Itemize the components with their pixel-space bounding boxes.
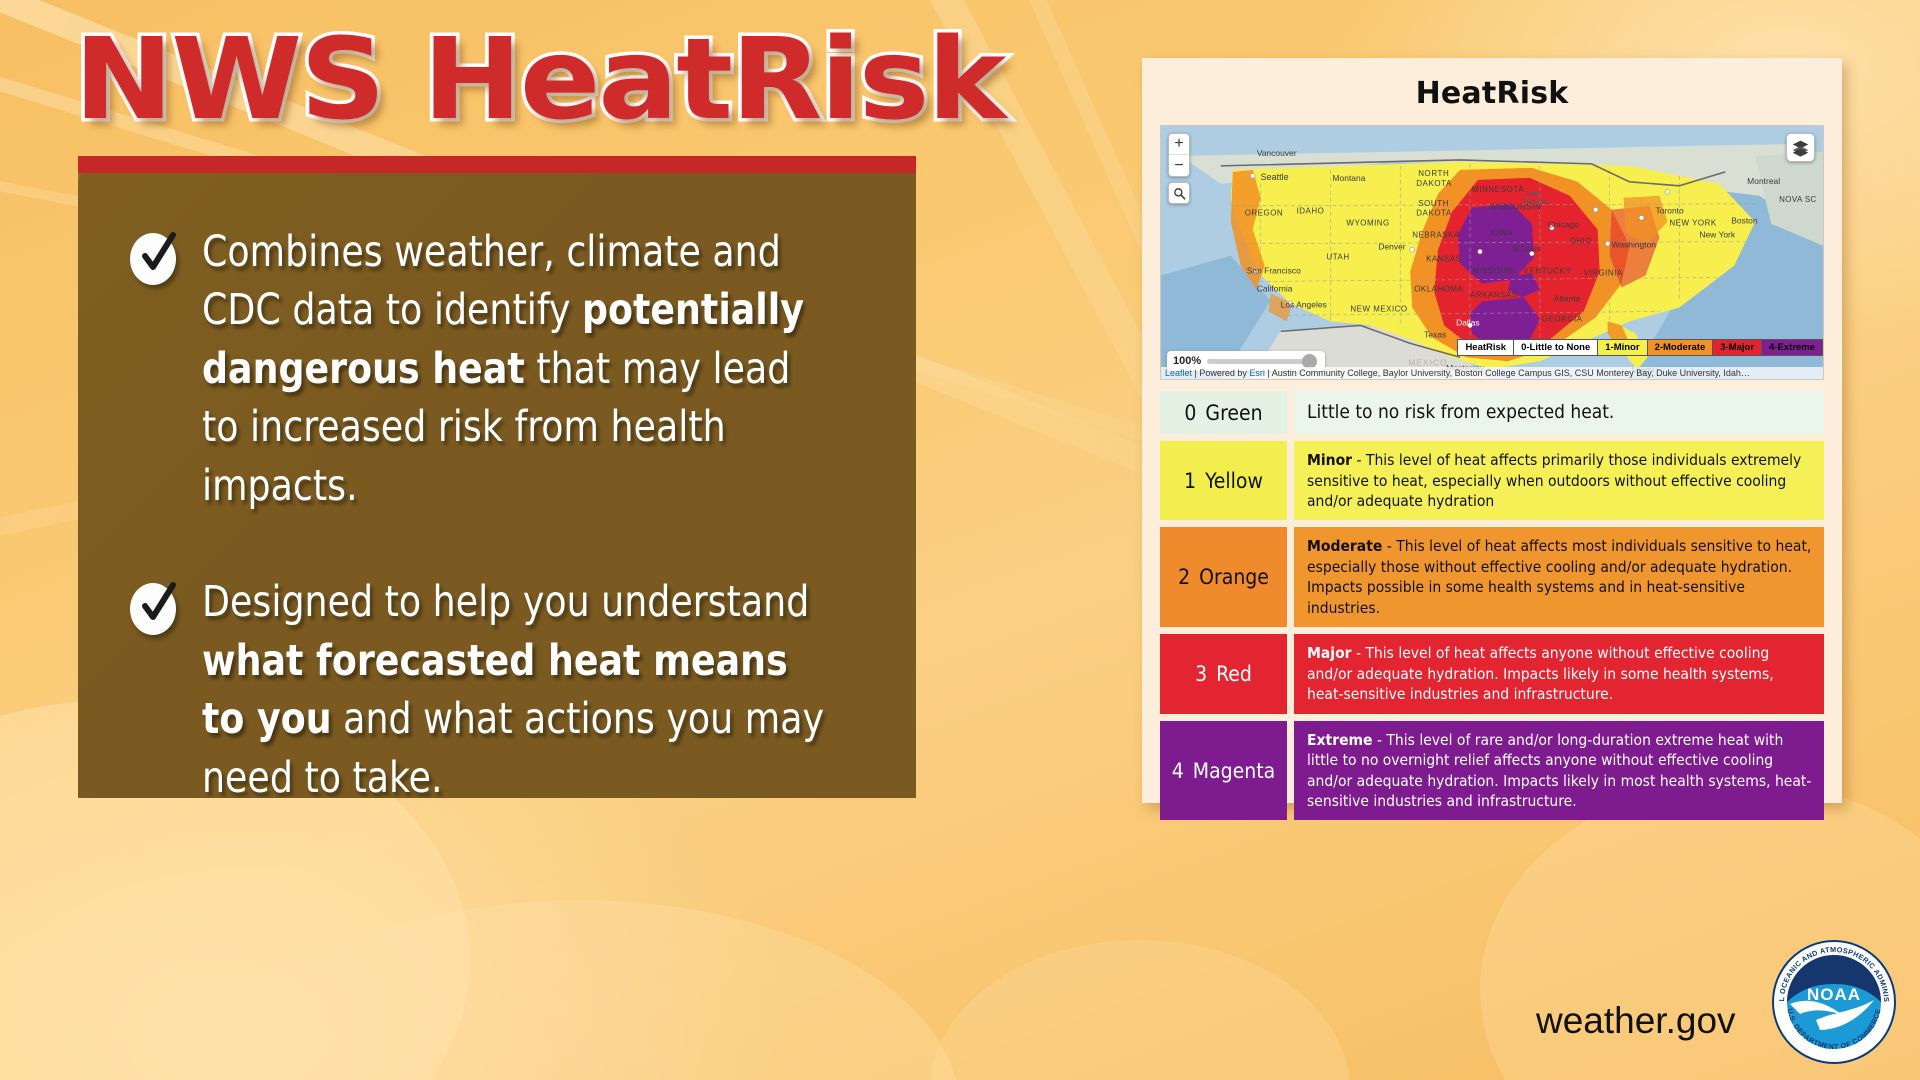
legend-desc-lead: Moderate (1307, 537, 1382, 555)
title-divider (78, 156, 916, 173)
svg-text:MEXICO: MEXICO (1408, 357, 1447, 367)
svg-text:OKLAHOMA: OKLAHOMA (1414, 284, 1463, 293)
leaflet-link[interactable]: Leaflet (1165, 368, 1192, 378)
legend-desc-body: Little to no risk from expected heat. (1307, 401, 1614, 423)
legend-level-name: Green (1205, 401, 1262, 425)
svg-text:Seattle: Seattle (1261, 172, 1289, 182)
legend-level-swatch: 4 Magenta (1160, 721, 1287, 821)
legend-description: Moderate - This level of heat affects mo… (1294, 527, 1824, 627)
svg-text:KENTUCKY: KENTUCKY (1524, 267, 1572, 276)
legend-description: Minor - This level of heat affects prima… (1294, 441, 1824, 520)
zoom-in-button[interactable]: + (1169, 134, 1189, 155)
legend-desc-body: - This level of heat affects primarily t… (1307, 451, 1801, 510)
legend-desc-lead: Extreme (1307, 731, 1373, 749)
legend-desc-lead: Major (1307, 644, 1352, 662)
svg-text:NEW YORK: NEW YORK (1669, 219, 1716, 228)
legend-chip: 4-Extreme (1762, 340, 1822, 355)
legend-chip: HeatRisk (1458, 340, 1514, 355)
legend-level-number: 0 (1184, 401, 1196, 425)
legend-level-name: Magenta (1193, 759, 1275, 783)
check-circle-icon (130, 583, 176, 635)
svg-text:Superior: Superior (1522, 199, 1549, 206)
legend-level-number: 2 (1178, 565, 1190, 589)
legend-level-number: 1 (1184, 469, 1196, 493)
svg-text:NOAA: NOAA (1807, 985, 1861, 1004)
svg-text:Atlanta: Atlanta (1554, 293, 1581, 303)
bullet-item: Combines weather, climate and CDC data t… (78, 223, 916, 515)
legend-chip: 3-Major (1713, 340, 1762, 355)
svg-text:KANSAS: KANSAS (1426, 255, 1461, 264)
legend-level-name: Yellow (1205, 469, 1263, 493)
heatrisk-card: HeatRisk (1142, 58, 1842, 803)
legend-row-2: 2 Orange Moderate - This level of heat a… (1160, 527, 1824, 627)
svg-text:ARKANSAS: ARKANSAS (1470, 290, 1517, 299)
content-panel: Combines weather, climate and CDC data t… (78, 173, 916, 798)
svg-text:NEW MEXICO: NEW MEXICO (1350, 304, 1407, 313)
decor-blob (200, 900, 960, 1080)
svg-text:OHIO: OHIO (1570, 237, 1592, 246)
slider-track[interactable] (1207, 359, 1317, 364)
layers-icon[interactable] (1786, 133, 1815, 162)
legend-row-3: 3 Red Major - This level of heat affects… (1160, 634, 1824, 713)
bullet-text: Designed to help you understand what for… (202, 573, 832, 798)
legend-chip: 2-Moderate (1648, 340, 1714, 355)
svg-text:SOUTH: SOUTH (1418, 199, 1449, 208)
svg-text:Texas: Texas (1424, 329, 1446, 339)
legend-desc-body: - This level of heat affects most indivi… (1307, 537, 1811, 616)
svg-text:MISSOURI: MISSOURI (1472, 267, 1515, 276)
svg-text:Washington: Washington (1612, 240, 1657, 250)
svg-text:DAKOTA: DAKOTA (1416, 179, 1452, 188)
svg-text:Chicago: Chicago (1548, 220, 1579, 230)
svg-text:San Francisco: San Francisco (1247, 266, 1301, 276)
svg-text:IDAHO: IDAHO (1297, 207, 1325, 216)
legend-level-number: 4 (1172, 759, 1184, 783)
card-title: HeatRisk (1142, 58, 1842, 111)
svg-text:UTAH: UTAH (1326, 253, 1349, 262)
svg-text:St Louis: St Louis (1512, 245, 1541, 254)
legend-row-4: 4 Magenta Extreme - This level of rare a… (1160, 721, 1824, 821)
svg-text:NORTH: NORTH (1418, 169, 1449, 178)
svg-text:MINNESOTA: MINNESOTA (1472, 185, 1524, 194)
svg-text:California: California (1257, 283, 1293, 293)
legend-level-number: 3 (1195, 662, 1207, 686)
legend-desc-lead: Minor (1307, 451, 1352, 469)
svg-text:VIRGINIA: VIRGINIA (1584, 269, 1623, 278)
bullet-text: Combines weather, climate and CDC data t… (202, 223, 832, 515)
svg-text:New York: New York (1699, 230, 1736, 240)
svg-text:GEORGIA: GEORGIA (1542, 314, 1583, 323)
poster-root: NWS HeatRisk Combines weather, climate a… (0, 0, 1920, 1080)
svg-text:WYOMING: WYOMING (1346, 219, 1389, 228)
legend-description: Major - This level of heat affects anyon… (1294, 634, 1824, 713)
svg-text:Denver: Denver (1378, 242, 1405, 252)
noaa-seal-icon: NOAA NATIONAL OCEANIC AND ATMOSPHERIC AD… (1770, 938, 1898, 1066)
attribution-rest: | Austin Community College, Baylor Unive… (1265, 368, 1750, 378)
legend-level-name: Red (1216, 662, 1252, 686)
attribution-sep: | Powered by (1192, 368, 1249, 378)
decor-blob (930, 940, 1350, 1080)
svg-text:NEBRASKA: NEBRASKA (1412, 231, 1460, 240)
heatrisk-legend-table: 0 Green Little to no risk from expected … (1160, 391, 1824, 820)
opacity-value: 100% (1173, 355, 1201, 367)
map-attribution: Leaflet | Powered by Esri | Austin Commu… (1161, 367, 1823, 379)
legend-description: Extreme - This level of rare and/or long… (1294, 721, 1824, 821)
svg-text:Dallas: Dallas (1456, 317, 1480, 327)
legend-level-swatch: 1 Yellow (1160, 441, 1287, 520)
svg-text:OREGON: OREGON (1245, 209, 1283, 218)
svg-text:Lake: Lake (1526, 191, 1541, 198)
legend-level-swatch: 0 Green (1160, 391, 1287, 434)
svg-text:Los Angeles: Los Angeles (1281, 299, 1327, 309)
zoom-controls[interactable]: + − (1168, 133, 1190, 177)
legend-row-0: 0 Green Little to no risk from expected … (1160, 391, 1824, 434)
bullet-item: Designed to help you understand what for… (78, 573, 916, 798)
search-icon[interactable] (1168, 182, 1190, 204)
heatrisk-map[interactable]: Vancouver Seattle Montana NORTH DAKOTA M… (1160, 125, 1824, 380)
legend-chip: 0-Little to None (1514, 340, 1598, 355)
legend-level-name: Orange (1199, 565, 1269, 589)
svg-text:Boston: Boston (1731, 216, 1758, 226)
svg-text:NOVA SC: NOVA SC (1779, 195, 1817, 204)
legend-level-swatch: 2 Orange (1160, 527, 1287, 627)
svg-text:Montreal: Montreal (1747, 176, 1780, 186)
map-color-legend: HeatRisk 0-Little to None 1-Minor 2-Mode… (1457, 339, 1823, 356)
page-title: NWS HeatRisk (74, 12, 1004, 149)
legend-desc-body: - This level of rare and/or long-duratio… (1307, 731, 1811, 810)
svg-text:Montana: Montana (1332, 173, 1365, 183)
bullet-seg: Designed to help you understand (202, 577, 809, 627)
check-circle-icon (130, 233, 176, 285)
svg-text:DAKOTA: DAKOTA (1416, 209, 1452, 218)
legend-level-swatch: 3 Red (1160, 634, 1287, 713)
legend-chip: 1-Minor (1598, 340, 1647, 355)
zoom-out-button[interactable]: − (1169, 155, 1189, 176)
weather-gov-label: weather.gov (1536, 1000, 1736, 1042)
legend-row-1: 1 Yellow Minor - This level of heat affe… (1160, 441, 1824, 520)
esri-link[interactable]: Esri (1249, 368, 1265, 378)
legend-description: Little to no risk from expected heat. (1294, 391, 1824, 434)
svg-text:Toronto: Toronto (1655, 206, 1684, 216)
svg-text:IOWA: IOWA (1490, 229, 1513, 238)
svg-text:Vancouver: Vancouver (1257, 148, 1297, 158)
legend-desc-body: - This level of heat affects anyone with… (1307, 644, 1774, 703)
